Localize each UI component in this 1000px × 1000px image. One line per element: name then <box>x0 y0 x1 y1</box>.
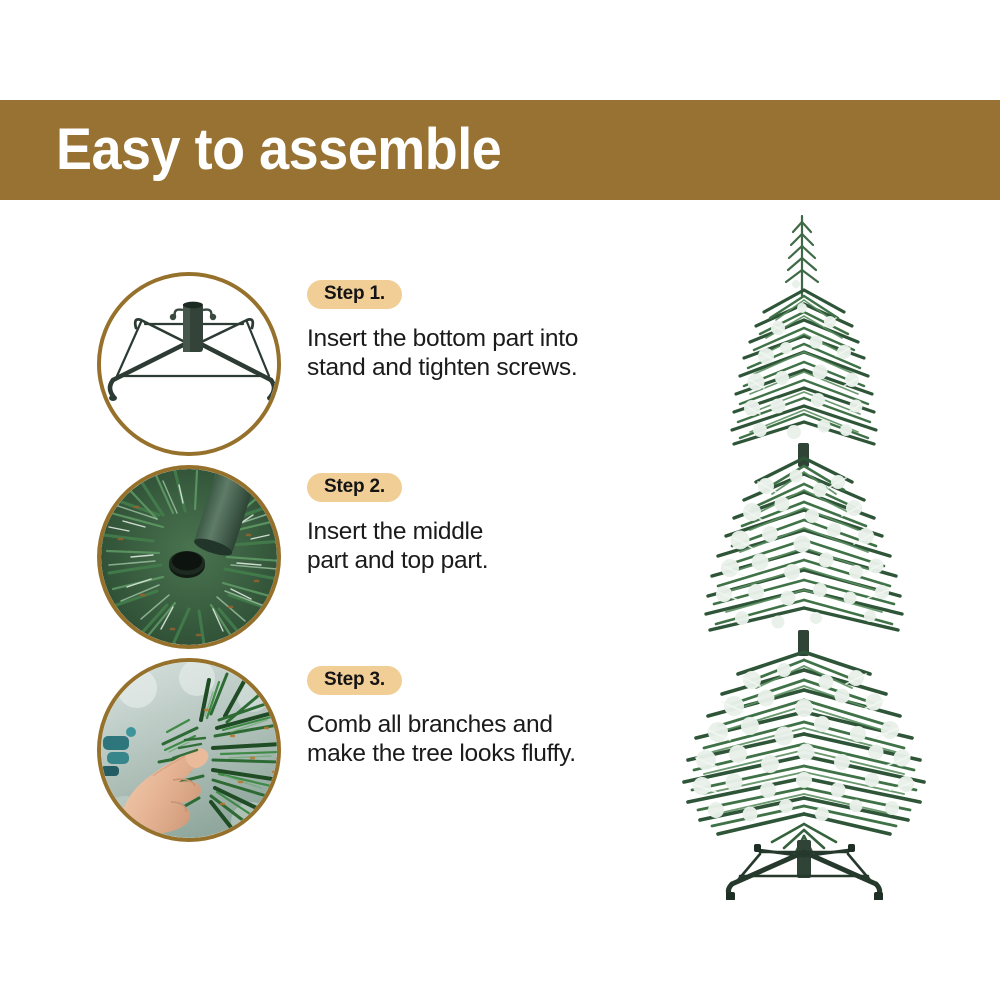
page-root: Easy to assemble <box>0 0 1000 1000</box>
stand-foot <box>754 844 761 852</box>
tree-stand <box>726 840 883 900</box>
step-line: make the tree looks fluffy. <box>307 740 657 769</box>
steps-list: Step 1. Insert the bottom part into stan… <box>0 262 660 892</box>
tree-stand-illustration <box>101 276 277 452</box>
stand-foot <box>726 892 735 900</box>
step-text-block: Step 1. Insert the bottom part into stan… <box>307 280 657 383</box>
step-text-block: Step 3. Comb all branches and make the t… <box>307 666 657 769</box>
step-row: Step 2. Insert the middle part and top p… <box>0 455 660 647</box>
pole-insert-illustration <box>101 469 277 645</box>
comb-branches-illustration <box>101 662 277 838</box>
stand-foot <box>874 892 883 900</box>
step-description: Comb all branches and make the tree look… <box>307 711 657 769</box>
header-banner: Easy to assemble <box>0 100 1000 200</box>
step-line: Insert the bottom part into <box>307 325 657 354</box>
step-image-tree-stand <box>97 272 281 456</box>
step-line: Insert the middle <box>307 518 657 547</box>
christmas-tree-illustration <box>660 200 1000 900</box>
tree-connector-pole <box>798 443 809 467</box>
tree-top-section <box>732 216 876 467</box>
step-line: stand and tighten screws. <box>307 354 657 383</box>
stand-foot <box>848 844 855 852</box>
page-title: Easy to assemble <box>56 121 501 179</box>
step-badge: Step 2. <box>307 473 402 502</box>
step-description: Insert the middle part and top part. <box>307 518 657 576</box>
step-line: part and top part. <box>307 547 657 576</box>
tree-bottom-section <box>684 652 924 852</box>
product-image-christmas-tree <box>660 200 1000 900</box>
step-image-comb-branches <box>97 658 281 842</box>
step-row: Step 1. Insert the bottom part into stan… <box>0 262 660 454</box>
step-row: Step 3. Comb all branches and make the t… <box>0 648 660 840</box>
tree-middle-section <box>706 458 902 656</box>
step-badge: Step 3. <box>307 666 402 695</box>
step-description: Insert the bottom part into stand and ti… <box>307 325 657 383</box>
step-image-pole-insert <box>97 465 281 649</box>
step-line: Comb all branches and <box>307 711 657 740</box>
step-text-block: Step 2. Insert the middle part and top p… <box>307 473 657 576</box>
step-badge: Step 1. <box>307 280 402 309</box>
